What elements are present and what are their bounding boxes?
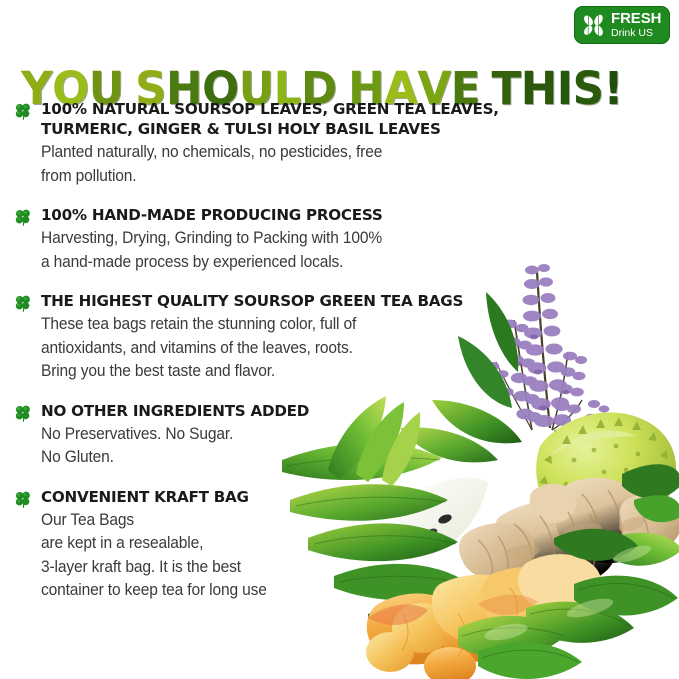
clover-icon [14, 102, 32, 120]
feature-heading: THE HIGHEST QUALITY SOURSOP GREEN TEA BA… [41, 291, 566, 311]
brand-wordmark: FRESH Drink US [611, 11, 661, 39]
title-letter: ! [604, 61, 623, 117]
feature-item: THE HIGHEST QUALITY SOURSOP GREEN TEA BA… [14, 291, 574, 384]
feature-list: 100% NATURAL SOURSOP LEAVES, GREEN TEA L… [14, 99, 574, 603]
leaf-group-right [622, 464, 679, 522]
leaf-flower-icon [579, 10, 609, 40]
clover-icon [14, 208, 32, 226]
feature-item: 100% HAND-MADE PRODUCING PROCESSHarvesti… [14, 205, 574, 274]
feature-item: 100% NATURAL SOURSOP LEAVES, GREEN TEA L… [14, 99, 574, 188]
feature-body: Planted naturally, no chemicals, no pest… [41, 141, 553, 188]
clover-icon [14, 490, 32, 508]
title-letter: S [573, 61, 604, 117]
brand-name-primary: FRESH [611, 11, 661, 26]
feature-heading: 100% HAND-MADE PRODUCING PROCESS [41, 205, 566, 225]
feature-body: These tea bags retain the stunning color… [41, 313, 553, 384]
feature-item: NO OTHER INGREDIENTS ADDEDNo Preservativ… [14, 401, 574, 470]
feature-heading: CONVENIENT KRAFT BAG [41, 487, 566, 507]
feature-body: Our Tea Bags are kept in a resealable, 3… [41, 509, 553, 603]
brand-logo[interactable]: FRESH Drink US [574, 6, 670, 44]
clover-icon [14, 294, 32, 312]
feature-item: CONVENIENT KRAFT BAGOur Tea Bags are kep… [14, 487, 574, 603]
feature-body: Harvesting, Drying, Grinding to Packing … [41, 227, 553, 274]
promo-infographic: FRESH Drink US YOUSHOULDHAVETHIS! 100% N… [0, 0, 679, 679]
feature-heading: NO OTHER INGREDIENTS ADDED [41, 401, 566, 421]
feature-heading: 100% NATURAL SOURSOP LEAVES, GREEN TEA L… [41, 99, 566, 139]
feature-body: No Preservatives. No Sugar. No Gluten. [41, 423, 553, 470]
clover-icon [14, 404, 32, 422]
brand-name-secondary: Drink US [611, 28, 661, 39]
